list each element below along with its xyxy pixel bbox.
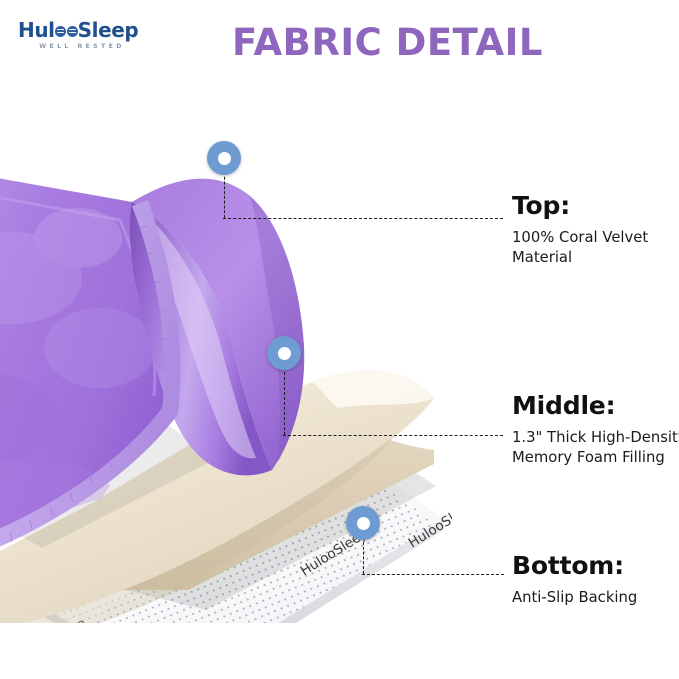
callout-top-title: Top: (512, 192, 679, 220)
callout-top: Top: 100% Coral Velvet Material (512, 192, 679, 268)
brand-logo: Hul Sleep WELL RESTED (18, 20, 158, 50)
sleepy-eyes-icon (55, 26, 78, 37)
callout-marker-middle[interactable] (267, 336, 301, 370)
sleepy-eye-icon-right (67, 26, 78, 37)
leader-line-bottom-vertical (363, 537, 364, 574)
callout-bottom-body: Anti-Slip Backing (512, 588, 679, 608)
callout-middle-title: Middle: (512, 392, 679, 420)
callout-marker-bottom[interactable] (346, 506, 380, 540)
page-title: FABRIC DETAIL (232, 24, 543, 61)
infographic-canvas: Hul Sleep WELL RESTED FABRIC DETAIL (0, 0, 679, 679)
brand-name-part2: Sleep (78, 20, 139, 40)
leader-line-middle-vertical (284, 367, 285, 435)
callout-middle: Middle: 1.3" Thick High-Density Memory F… (512, 392, 679, 468)
sleepy-eye-icon-left (55, 26, 66, 37)
brand-tagline: WELL RESTED (18, 43, 146, 50)
brand-name-part1: Hul (18, 20, 55, 40)
leader-line-middle-horizontal (283, 435, 503, 436)
callout-marker-top[interactable] (207, 141, 241, 175)
callout-top-body: 100% Coral Velvet Material (512, 228, 679, 269)
leader-line-top-vertical (224, 172, 225, 218)
callout-bottom: Bottom: Anti-Slip Backing (512, 552, 679, 608)
callout-middle-body: 1.3" Thick High-Density Memory Foam Fill… (512, 428, 679, 469)
callout-bottom-title: Bottom: (512, 552, 679, 580)
leader-line-top-horizontal (223, 218, 503, 219)
brand-wordmark: Hul Sleep (18, 20, 158, 40)
leader-line-bottom-horizontal (362, 574, 504, 575)
